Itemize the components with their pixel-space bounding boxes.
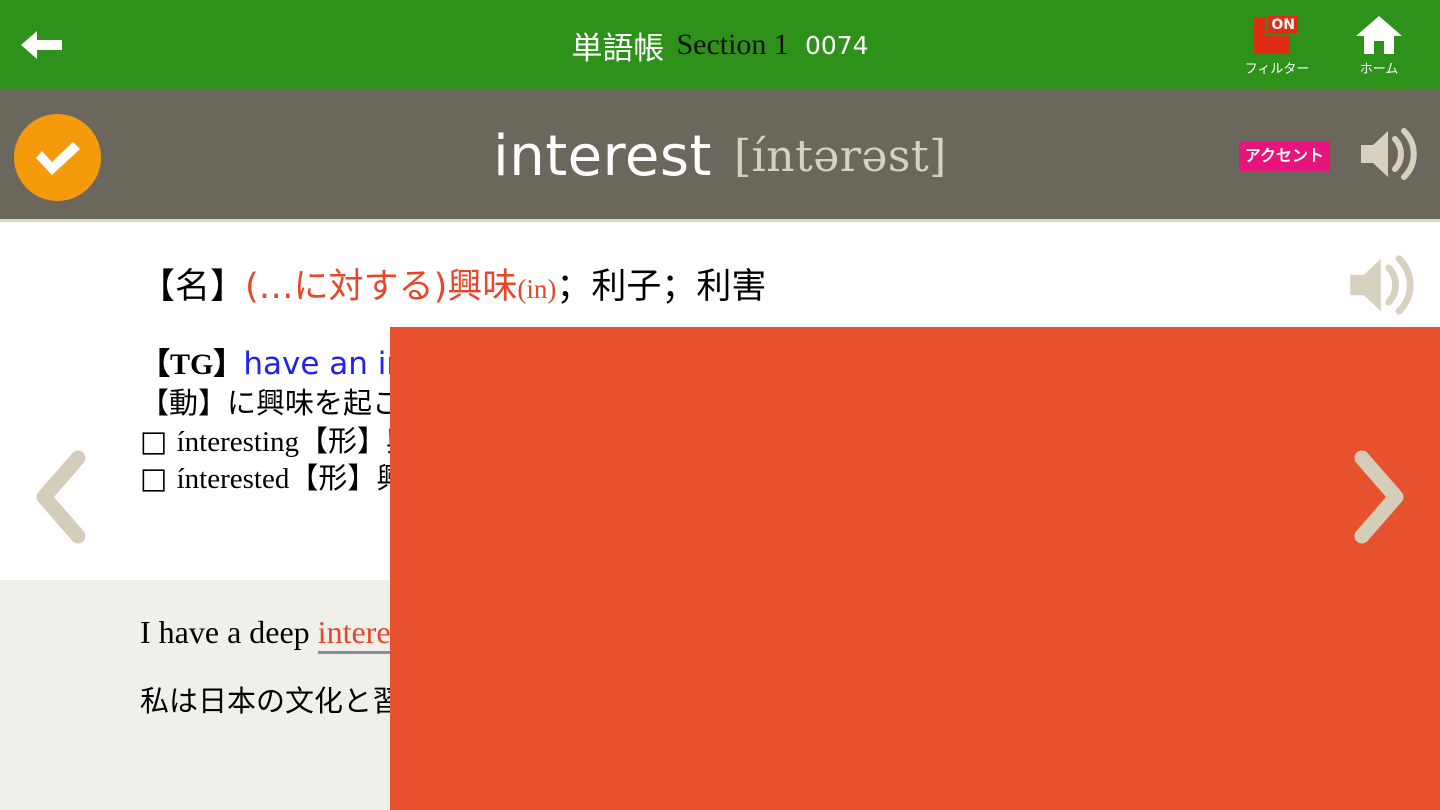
mastered-check-button[interactable] [14, 114, 101, 201]
home-button[interactable]: ホーム [1340, 6, 1418, 84]
filter-icon: ON [1254, 14, 1300, 56]
filter-button[interactable]: ON フィルター [1238, 6, 1316, 84]
chevron-right-icon [1348, 450, 1410, 544]
word-band-controls: アクセント [1239, 90, 1420, 222]
headword-area: interest [íntərəst] [0, 90, 1440, 222]
header-title-section: Section 1 [676, 28, 789, 62]
derived-2-checkbox-mark: □ [140, 461, 167, 495]
next-word-button[interactable] [1348, 450, 1410, 549]
chevron-left-icon [30, 450, 92, 544]
accent-badge[interactable]: アクセント [1239, 141, 1330, 171]
headword: interest [493, 124, 712, 189]
noun-meaning-rest: ；利子；利害 [556, 267, 766, 307]
home-icon [1355, 14, 1403, 56]
filter-on-badge: ON [1266, 14, 1300, 36]
definition-noun-line: 【名】(…に対する)興味(in)；利子；利害 [140, 258, 766, 309]
noun-meaning-preposition: (in) [517, 274, 556, 304]
filter-button-label: フィルター [1245, 58, 1310, 77]
phonetic-transcription: [íntərəst] [734, 131, 947, 182]
tg-tag: 【TG】 [140, 348, 243, 381]
previous-word-button[interactable] [30, 450, 92, 549]
check-circle-icon [32, 138, 84, 178]
header-title: 単語帳 Section 1 0074 [0, 0, 1440, 90]
app-header: 単語帳 Section 1 0074 ON フィルター ホーム [0, 0, 1440, 90]
example-en-before: I have a deep [140, 614, 318, 650]
vocabulary-app-screen: 単語帳 Section 1 0074 ON フィルター ホーム [0, 0, 1440, 810]
derived-1-checkbox-mark: □ [140, 424, 167, 458]
definition-speaker-button[interactable] [1346, 252, 1418, 323]
header-title-jp: 単語帳 [571, 23, 664, 68]
header-word-number: 0074 [805, 31, 869, 60]
noun-meaning-red: (…に対する)興味 [245, 267, 517, 307]
derived-1-word: ínteresting [177, 426, 299, 458]
speaker-icon [1346, 252, 1418, 318]
noun-pos-tag: 【名】 [140, 267, 245, 307]
speaker-icon [1358, 125, 1420, 183]
home-button-label: ホーム [1360, 58, 1399, 77]
header-tools: ON フィルター ホーム [1238, 0, 1440, 90]
headword-speaker-button[interactable] [1358, 125, 1420, 188]
answer-mask-overlay[interactable] [390, 327, 1440, 810]
derived-2-word: ínterested [177, 463, 290, 495]
